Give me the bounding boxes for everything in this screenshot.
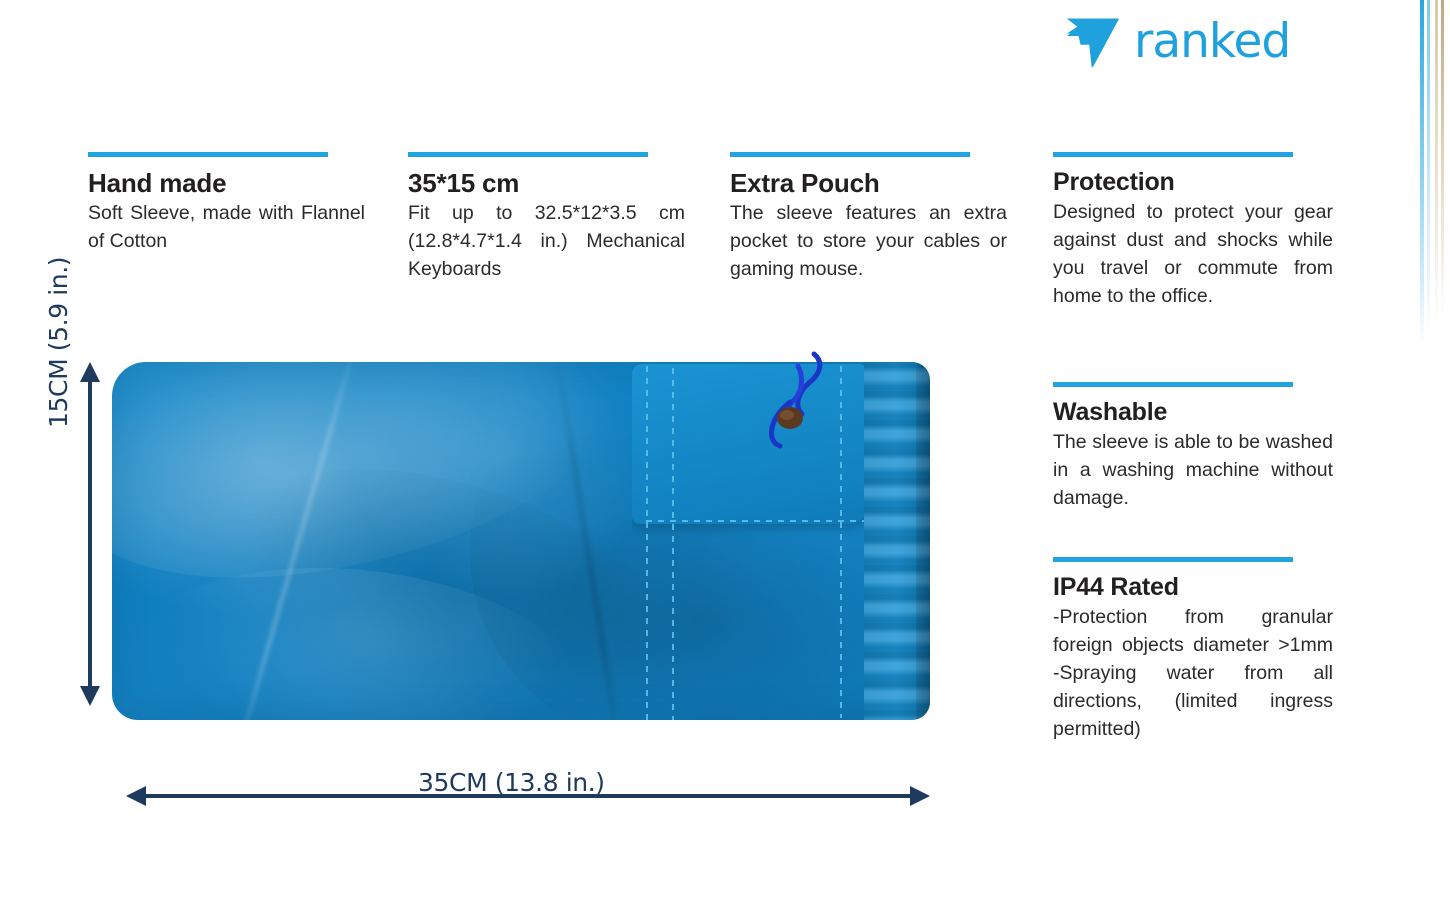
edge-gradient-stripes — [1414, 0, 1450, 560]
fabric-crease — [228, 362, 359, 720]
feature-title: Washable — [1053, 399, 1333, 426]
feature-block-washable: Washable The sleeve is able to be washed… — [1053, 382, 1333, 512]
feature-block-extra-pouch: Extra Pouch The sleeve features an extra… — [730, 152, 1007, 283]
feature-title: IP44 Rated — [1053, 574, 1333, 601]
width-dimension-label: 35CM (13.8 in.) — [418, 768, 605, 797]
velvet-fold — [118, 546, 596, 720]
stitch-seam — [672, 368, 674, 720]
feature-title: Extra Pouch — [730, 169, 1007, 197]
stitch-seam — [646, 520, 872, 522]
feature-title: 35*15 cm — [408, 169, 685, 197]
feature-body: The sleeve features an extra pocket to s… — [730, 199, 1007, 283]
feature-body: -Protection from granular foreign object… — [1053, 603, 1333, 743]
accent-bar — [730, 152, 970, 157]
stripe-blue-primary — [1420, 0, 1424, 560]
brand-name: ranked — [1134, 18, 1290, 65]
ranked-arrow-logo-icon — [1062, 10, 1124, 72]
stitch-seam — [646, 366, 648, 720]
stripe-blue-light — [1427, 0, 1430, 560]
stripe-tan-light — [1435, 0, 1438, 560]
accent-bar — [88, 152, 328, 157]
feature-block-protection: Protection Designed to protect your gear… — [1053, 152, 1333, 310]
drawstring-cord — [698, 348, 828, 458]
stitch-seam — [840, 366, 842, 718]
feature-title: Hand made — [88, 169, 365, 197]
infographic-canvas: ranked Hand made Soft Sleeve, made with … — [0, 0, 1450, 897]
accent-bar — [1053, 557, 1293, 562]
drawstring-ruffle-edge — [916, 362, 930, 720]
feature-title: Protection — [1053, 169, 1333, 196]
stripe-tan-dark — [1441, 0, 1444, 560]
feature-body: The sleeve is able to be washed in a was… — [1053, 428, 1333, 512]
accent-bar — [408, 152, 648, 157]
accent-bar — [1053, 382, 1293, 387]
feature-body: Soft Sleeve, made with Flannel of Cotton — [88, 199, 365, 255]
height-dimension-label: 15CM (5.9 in.) — [44, 257, 73, 428]
feature-body: Fit up to 32.5*12*3.5 cm (12.8*4.7*1.4 i… — [408, 199, 685, 283]
feature-block-ip44-rated: IP44 Rated -Protection from granular for… — [1053, 557, 1333, 743]
feature-body: Designed to protect your gear against du… — [1053, 198, 1333, 310]
feature-block-dimensions: 35*15 cm Fit up to 32.5*12*3.5 cm (12.8*… — [408, 152, 685, 283]
fabric-crease — [553, 362, 623, 720]
height-dimension-arrow — [80, 362, 100, 706]
brand-logo: ranked — [1062, 10, 1290, 72]
velvet-fold — [112, 362, 657, 628]
feature-block-hand-made: Hand made Soft Sleeve, made with Flannel… — [88, 152, 365, 255]
accent-bar — [1053, 152, 1293, 157]
